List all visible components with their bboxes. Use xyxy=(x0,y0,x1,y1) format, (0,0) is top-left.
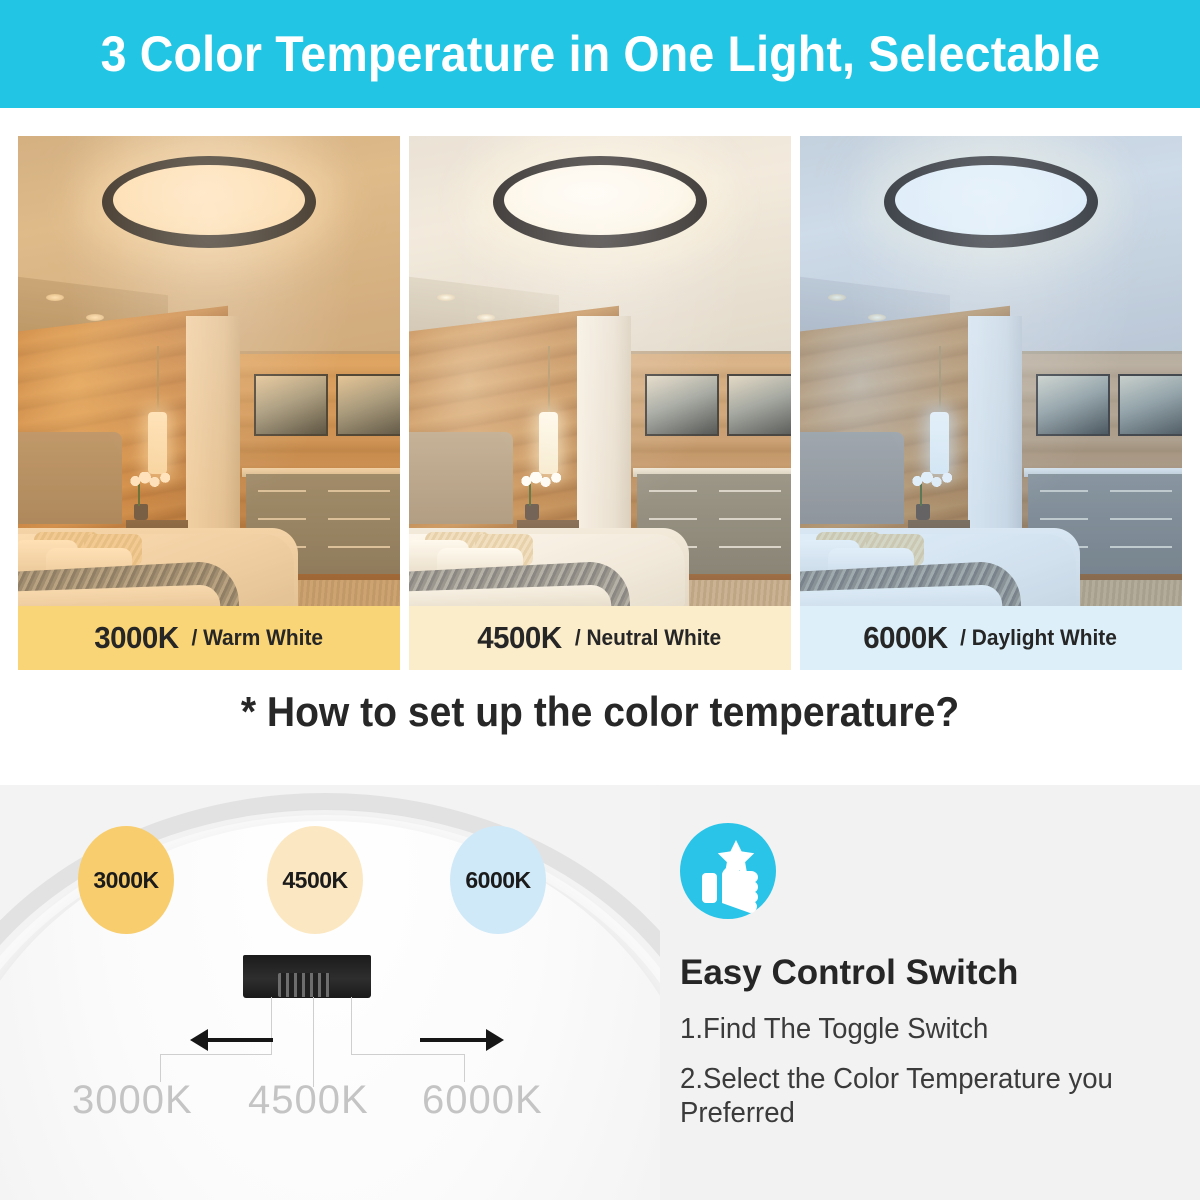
switch-label-6000k: 6000K xyxy=(422,1078,543,1123)
badge-3000k: 3000K xyxy=(78,826,174,934)
lamp-switch-photo: 3000K 4500K 6000K 3000K 4500K 6000K xyxy=(0,785,660,1200)
arrow-left-head-icon xyxy=(190,1029,208,1051)
arrow-left-icon xyxy=(205,1038,273,1042)
panel-3000k: 3000K / Warm White xyxy=(18,136,400,670)
setup-step-1: 1.Find The Toggle Switch xyxy=(680,1013,1174,1047)
bedroom-scene-warm xyxy=(18,136,400,606)
caption-6000k: 6000K / Daylight White xyxy=(800,606,1182,670)
caption-temperature: 4500K xyxy=(477,620,561,656)
thumbs-up-star-icon xyxy=(680,823,776,919)
how-to-heading: * How to set up the color temperature? xyxy=(42,688,1158,736)
caption-label: / Warm White xyxy=(191,625,323,651)
leader-line xyxy=(351,997,352,1055)
leader-line xyxy=(313,997,314,1087)
leader-line xyxy=(351,1054,465,1055)
light-vignette xyxy=(409,136,791,606)
panel-6000k: 6000K / Daylight White xyxy=(800,136,1182,670)
banner-title: 3 Color Temperature in One Light, Select… xyxy=(100,25,1100,83)
arrow-right-head-icon xyxy=(486,1029,504,1051)
panel-4500k: 4500K / Neutral White xyxy=(409,136,791,670)
switch-label-3000k: 3000K xyxy=(72,1078,193,1123)
bedroom-scene-daylight xyxy=(800,136,1182,606)
easy-control-title: Easy Control Switch xyxy=(680,953,1018,993)
caption-temperature: 6000K xyxy=(863,620,947,656)
badge-4500k: 4500K xyxy=(267,826,363,934)
easy-control-block: Easy Control Switch 1.Find The Toggle Sw… xyxy=(680,785,1180,1200)
infographic-page: 3 Color Temperature in One Light, Select… xyxy=(0,0,1200,1200)
setup-section: 3000K 4500K 6000K 3000K 4500K 6000K xyxy=(0,785,1200,1200)
badge-6000k: 6000K xyxy=(450,826,546,934)
caption-temperature: 3000K xyxy=(94,620,178,656)
caption-3000k: 3000K / Warm White xyxy=(18,606,400,670)
toggle-switch-ridges[interactable] xyxy=(278,973,330,997)
bedroom-scene-neutral xyxy=(409,136,791,606)
setup-step-2: 2.Select the Color Temperature you Prefe… xyxy=(680,1063,1174,1130)
color-temperature-panels: 3000K / Warm White xyxy=(18,136,1184,670)
light-vignette xyxy=(18,136,400,606)
badge-label: 3000K xyxy=(93,867,158,894)
switch-label-4500k: 4500K xyxy=(248,1078,369,1123)
caption-label: / Neutral White xyxy=(575,625,721,651)
badge-label: 4500K xyxy=(282,867,347,894)
leader-line xyxy=(271,997,272,1055)
caption-label: / Daylight White xyxy=(961,625,1118,651)
badge-label: 6000K xyxy=(465,867,530,894)
header-banner: 3 Color Temperature in One Light, Select… xyxy=(0,0,1200,108)
caption-4500k: 4500K / Neutral White xyxy=(409,606,791,670)
arrow-right-icon xyxy=(420,1038,488,1042)
light-vignette xyxy=(800,136,1182,606)
leader-line xyxy=(160,1054,272,1055)
